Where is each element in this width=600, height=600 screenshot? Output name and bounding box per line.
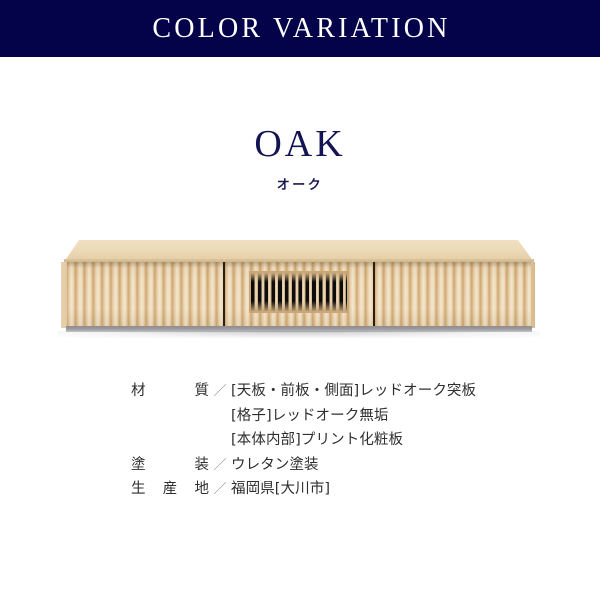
panel-divider-right: [373, 262, 375, 328]
lattice-grille-highlight-bottom: [251, 301, 347, 311]
product-photo: [0, 228, 600, 338]
spec-separator-finish: ／: [209, 459, 231, 472]
specification-list: 材質 ／ [天板・前板・側面]レッドオーク突板 [格子]レッドオーク無垢 [本体…: [0, 384, 600, 507]
drawer-panel-right: [375, 262, 531, 328]
color-name-latin: OAK: [0, 125, 600, 165]
panel-divider-left: [223, 262, 225, 328]
cabinet-body: [67, 262, 531, 328]
spec-row-material: 材質 ／ [天板・前板・側面]レッドオーク突板: [0, 384, 600, 399]
spec-row-finish: 塗装 ／ ウレタン塗装: [0, 458, 600, 473]
spec-value-origin: 福岡県[大川市]: [231, 482, 330, 497]
spec-row-material-line2: [格子]レッドオーク無垢: [0, 409, 600, 424]
spec-separator-origin: ／: [209, 483, 231, 496]
spec-indent-spacer-1: [0, 409, 231, 424]
panel-shading-left: [67, 262, 223, 328]
color-variation-banner: COLOR VARIATION: [0, 0, 600, 57]
drawer-panel-left: [67, 262, 223, 328]
spec-value-finish: ウレタン塗装: [231, 458, 319, 473]
page-title: COLOR VARIATION: [149, 15, 450, 43]
center-panel: [225, 262, 373, 328]
spec-label-material: 材質: [131, 384, 209, 399]
spec-indent-spacer-2: [0, 433, 231, 448]
lattice-grille-highlight-top: [251, 273, 347, 282]
spec-row-origin: 生産地 ／ 福岡県[大川市]: [0, 482, 600, 497]
color-name-kana: オーク: [0, 174, 600, 193]
spec-row-material-line3: [本体内部]プリント化粧板: [0, 433, 600, 448]
spec-separator-material: ／: [209, 385, 231, 398]
spec-value-material-1: [天板・前板・側面]レッドオーク突板: [231, 384, 476, 399]
spec-value-material-3: [本体内部]プリント化粧板: [231, 433, 403, 448]
tv-board-illustration: [64, 240, 534, 332]
spec-value-material-2: [格子]レッドオーク無垢: [231, 409, 389, 424]
color-name-block: OAK オーク: [0, 125, 600, 193]
spec-label-origin: 生産地: [131, 482, 209, 497]
panel-shading-right: [375, 262, 531, 328]
spec-label-finish: 塗装: [131, 458, 209, 473]
floor-shadow: [58, 331, 540, 338]
